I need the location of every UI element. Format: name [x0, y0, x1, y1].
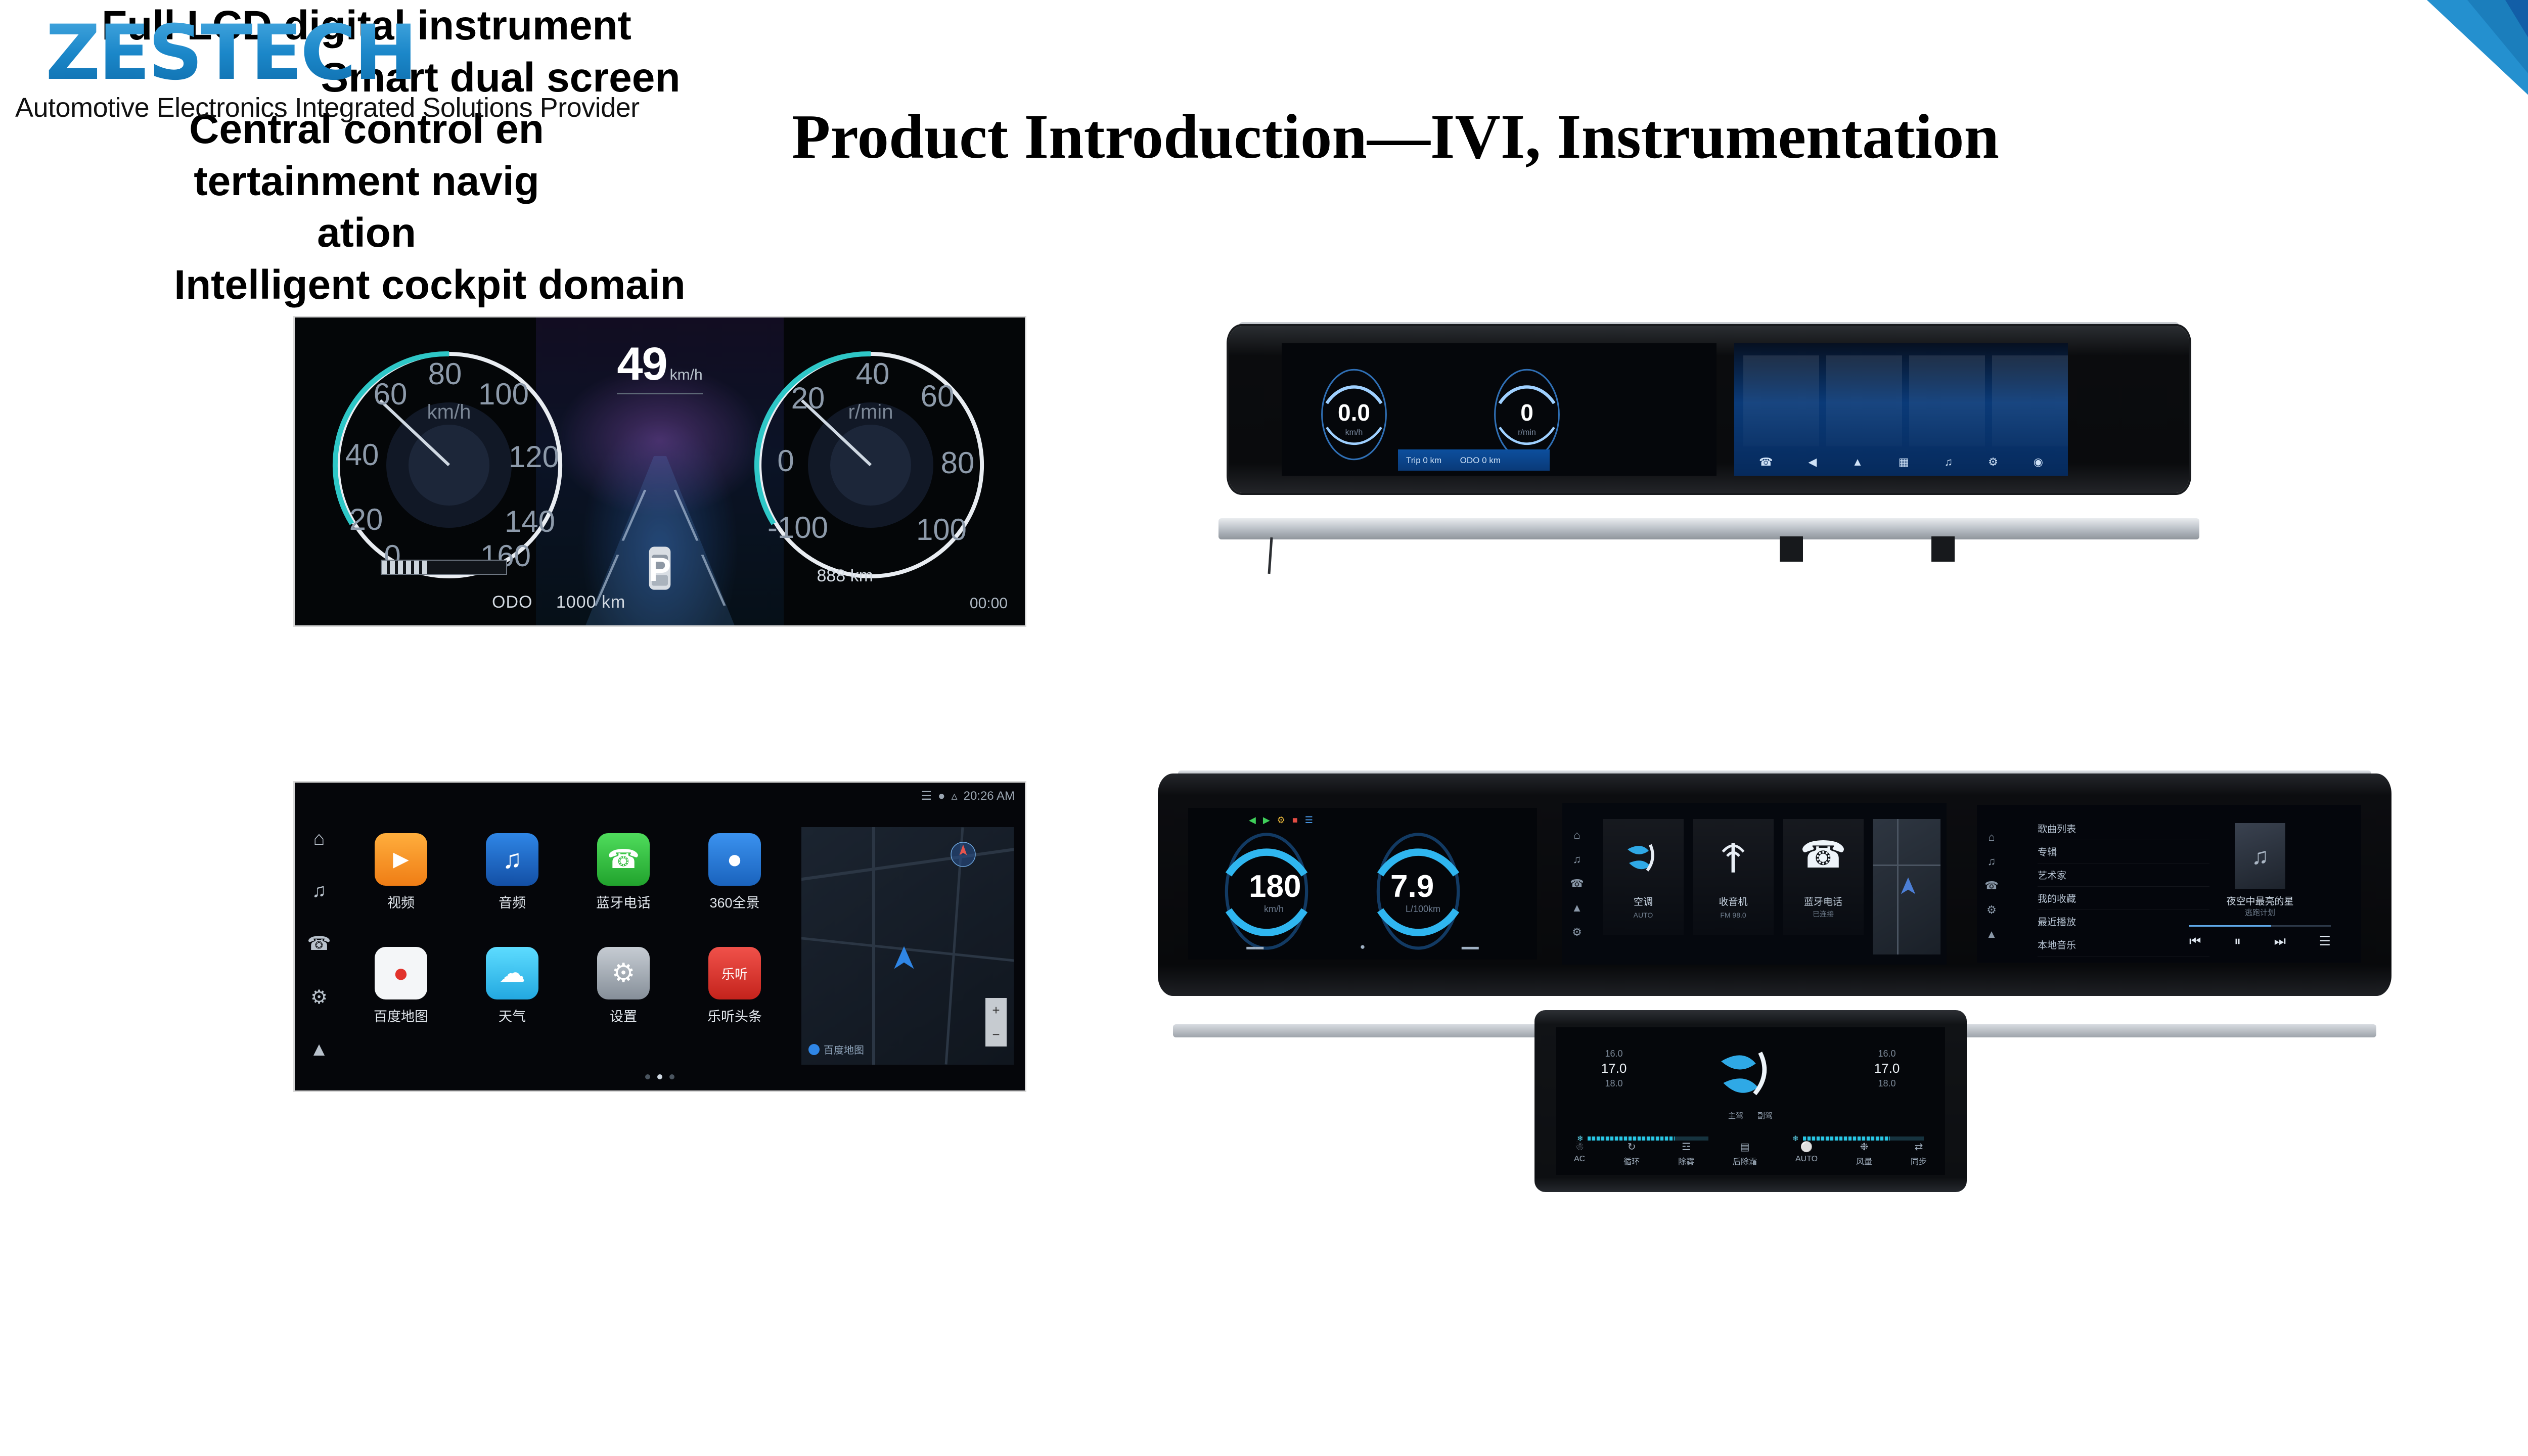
playlist-item[interactable]: 歌曲列表 — [2038, 817, 2209, 840]
nav-phone-icon[interactable]: ☎ — [307, 932, 331, 955]
song-artist: 逃跑计划 — [2204, 907, 2316, 918]
climate-button-row[interactable]: ☃ AC ↻ 循环 ☲ 除雾 ▤ 后除霜 ⚪ AUTO — [1574, 1141, 1927, 1167]
fuel-gauge-bar — [381, 560, 507, 575]
app-tile-settings[interactable]: ⚙ 设置 — [573, 947, 674, 1056]
status-chip: ● — [1360, 942, 1365, 952]
side-nav[interactable]: ⌂ ♫ ☎ ⚙ ▲ — [295, 813, 343, 1076]
range-value: 888 — [817, 566, 845, 585]
svg-text:r/min: r/min — [848, 401, 893, 423]
cockpit-card-climate[interactable]: 空调 AUTO — [1603, 819, 1684, 935]
button-label: 风量 — [1856, 1155, 1872, 1167]
odometer: ODO 1000 km — [492, 593, 625, 612]
rear-defrost-icon: ▤ — [1740, 1141, 1750, 1153]
product-image-smart-dual-screen: 0.0 km/h 0 r/min Trip 0 km ODO 0 km ☎ ◀ … — [1208, 326, 2209, 518]
playlist-item[interactable]: 我的收藏 — [2038, 887, 2209, 910]
dual-infotainment-screen[interactable]: ☎ ◀ ▲ ▦ ♫ ⚙ ◉ — [1734, 343, 2068, 476]
dock-apps-icon[interactable]: ▦ — [1899, 456, 1909, 469]
dock-phone-icon[interactable]: ☎ — [1759, 456, 1773, 469]
dual-antenna-stalk — [1268, 537, 1273, 574]
dual-rpm-value: 0 — [1479, 399, 1575, 426]
zoom-in-icon[interactable]: + — [992, 1003, 1000, 1018]
video-icon: ► — [375, 833, 427, 886]
cockpit-music-screen[interactable]: ⌂ ♫ ☎ ⚙ ▲ 歌曲列表 专辑 艺术家 我的收藏 最近播放 本地音乐 ♫ 夜… — [1977, 805, 2361, 963]
recirculate-icon: ↻ — [1628, 1141, 1636, 1153]
svg-text:60: 60 — [374, 377, 408, 411]
button-label: 循环 — [1623, 1155, 1640, 1167]
product-image-intelligent-cockpit-domain-controller: ◀ ▶ ⚙ ■ ☰ 180 km/h 7.9 — [1158, 773, 2391, 1026]
card-sub: FM 98.0 — [1693, 911, 1774, 919]
temp-current-value: 17.0 — [1859, 1060, 1915, 1077]
corner-decoration — [2376, 0, 2528, 152]
temp-current-value: 17.0 — [1586, 1060, 1642, 1077]
dual-speed-value: 0.0 — [1306, 399, 1402, 426]
playlist-item[interactable]: 专辑 — [2038, 840, 2209, 863]
wifi-icon: ● — [938, 789, 945, 803]
pause-icon[interactable]: ⏸ — [2234, 933, 2241, 949]
cockpit-cluster-screen: ◀ ▶ ⚙ ■ ☰ 180 km/h 7.9 — [1188, 808, 1537, 960]
music-icon[interactable]: ♫ — [1573, 853, 1582, 866]
music-icon: ♫ — [486, 833, 538, 886]
app-label: 360全景 — [709, 892, 759, 912]
app-tile-video[interactable]: ► 视频 — [350, 833, 452, 942]
svg-text:-100: -100 — [768, 511, 828, 544]
button-label: 除雾 — [1678, 1155, 1694, 1167]
status-time: 20:26 AM — [964, 789, 1015, 803]
dual-dock[interactable]: ☎ ◀ ▲ ▦ ♫ ⚙ ◉ — [1741, 456, 2061, 469]
cockpit-music-sidebar[interactable]: ⌂ ♫ ☎ ⚙ ▲ — [1980, 825, 2003, 946]
sync-icon: ⇄ — [1915, 1141, 1923, 1153]
dual-housing: 0.0 km/h 0 r/min Trip 0 km ODO 0 km ☎ ◀ … — [1229, 326, 2189, 493]
nav-navigation-icon[interactable]: ▲ — [309, 1039, 329, 1061]
map-badge: 百度地图 — [808, 1042, 864, 1057]
navigation-icon[interactable]: ▲ — [1986, 928, 1997, 941]
radio-antenna-icon — [1715, 836, 1751, 878]
card-title: 收音机 — [1693, 894, 1774, 908]
bluetooth-icon: ▵ — [952, 789, 958, 803]
climate-button-fanspeed[interactable]: ❉ 风量 — [1856, 1141, 1872, 1167]
playlist-item[interactable]: 艺术家 — [2038, 863, 2209, 887]
status-bar: ☰ ● ▵ 20:26 AM — [921, 789, 1015, 803]
product-image-full-lcd-digital-instrument: 80 60 100 40 120 20 140 0 160 km/h 40 20… — [293, 316, 1026, 627]
fan-speed-icon: ❉ — [1860, 1141, 1869, 1153]
settings-icon[interactable]: ⚙ — [1987, 903, 1997, 917]
button-label: AUTO — [1795, 1155, 1818, 1164]
svg-text:0: 0 — [777, 444, 794, 478]
playlist-icon[interactable]: ☰ — [2319, 933, 2331, 949]
svg-text:60: 60 — [921, 379, 955, 413]
climate-button-rear-defrost[interactable]: ▤ 后除霜 — [1733, 1141, 1757, 1167]
playback-progress[interactable] — [2189, 925, 2331, 927]
dual-mount-foot-right — [1931, 536, 1955, 562]
climate-button-auto[interactable]: ⚪ AUTO — [1795, 1141, 1818, 1167]
climate-screen[interactable]: 16.0 17.0 18.0 16.0 17.0 18.0 主驾 副驾 ❄ — [1556, 1027, 1945, 1175]
song-title: 夜空中最亮的星 — [2204, 894, 2316, 907]
cockpit-center-sidebar[interactable]: ⌂ ♫ ☎ ▲ ⚙ — [1565, 823, 1589, 944]
trip-a-value: Trip 0 km — [1406, 456, 1441, 466]
playlist[interactable]: 歌曲列表 专辑 艺术家 我的收藏 最近播放 本地音乐 — [2038, 817, 2209, 957]
app-tile-bluetooth-phone[interactable]: ☎ 蓝牙电话 — [573, 833, 674, 942]
speed-value: 49 — [617, 338, 666, 390]
app-tile-360-panorama[interactable]: ● 360全景 — [684, 833, 785, 942]
zoom-out-icon[interactable]: − — [992, 1027, 1000, 1042]
page-dot[interactable] — [645, 1074, 650, 1079]
gear-icon: ⚙ — [597, 947, 650, 999]
climate-button-sync[interactable]: ⇄ 同步 — [1911, 1141, 1927, 1167]
phone-icon[interactable]: ☎ — [1570, 877, 1584, 890]
card-sub: AUTO — [1603, 911, 1684, 919]
home-icon[interactable]: ⌂ — [1988, 831, 1995, 844]
svg-text:40: 40 — [345, 438, 379, 472]
highbeam-icon: ☰ — [1305, 815, 1313, 826]
product-image-central-control-entertainment-navigation: ☰ ● ▵ 20:26 AM ⌂ ♫ ☎ ⚙ ▲ ► 视频 ♫ 音频 ☎ 蓝牙电… — [293, 781, 1026, 1092]
music-icon[interactable]: ♫ — [1988, 855, 1996, 868]
warning-lamp-row: ◀ ▶ ⚙ ■ ☰ — [1249, 815, 1476, 826]
navigation-arrow-icon — [890, 943, 918, 972]
odometer-value: 1000 km — [556, 593, 625, 612]
climate-temp-right[interactable]: 16.0 17.0 18.0 — [1859, 1048, 1915, 1090]
button-label: AC — [1574, 1155, 1585, 1164]
temp-up-value: 16.0 — [1586, 1048, 1642, 1060]
svg-text:140: 140 — [505, 505, 555, 538]
previous-track-icon[interactable]: ⏮ — [2189, 933, 2201, 949]
map-zoom-controls[interactable]: + − — [985, 998, 1007, 1046]
cockpit-center-screen[interactable]: ⌂ ♫ ☎ ▲ ⚙ 空调 AUTO — [1562, 803, 1947, 965]
svg-text:120: 120 — [509, 440, 559, 474]
svg-text:80: 80 — [941, 446, 975, 480]
odometer-label: ODO — [492, 593, 532, 612]
cockpit-card-phone[interactable]: ☎ 蓝牙电话 已连接 — [1783, 819, 1864, 935]
app-tile-weather[interactable]: ☁ 天气 — [462, 947, 563, 1056]
seat-label: 副驾 — [1757, 1110, 1773, 1121]
phone-icon[interactable]: ☎ — [1984, 879, 1998, 892]
caption-line: Intelligent cockpit domain — [0, 259, 860, 311]
svg-text:20: 20 — [349, 503, 383, 536]
caption-line: ation — [0, 207, 733, 259]
navigation-icon[interactable]: ▲ — [1571, 901, 1583, 915]
climate-button-recirculate[interactable]: ↻ 循环 — [1623, 1141, 1640, 1167]
trip-b-value: ODO 0 km — [1460, 456, 1501, 466]
nav-home-icon[interactable]: ⌂ — [313, 828, 325, 850]
dual-card-navi[interactable] — [1992, 355, 2068, 446]
map-badge-icon — [808, 1044, 820, 1055]
cockpit-housing: ◀ ▶ ⚙ ■ ☰ 180 km/h 7.9 — [1158, 773, 2391, 996]
dual-cluster-screen: 0.0 km/h 0 r/min Trip 0 km ODO 0 km — [1282, 343, 1717, 476]
map-preview[interactable]: 百度地图 + − — [801, 827, 1014, 1065]
cockpit-card-radio[interactable]: 收音机 FM 98.0 — [1693, 819, 1774, 935]
turn-right-icon: ▶ — [1263, 815, 1270, 826]
dual-trip-bar: Trip 0 km ODO 0 km — [1398, 449, 1550, 471]
nav-music-icon[interactable]: ♫ — [312, 880, 327, 902]
logo-wordmark: ZESTECH — [15, 15, 551, 91]
climate-button-defog[interactable]: ☲ 除雾 — [1678, 1141, 1694, 1167]
dual-card-radio[interactable] — [1743, 355, 1819, 446]
cockpit-card-map[interactable] — [1873, 819, 1940, 954]
button-label: 后除霜 — [1733, 1155, 1757, 1167]
page-title: Product Introduction—IVI, Instrumentatio… — [536, 101, 2255, 173]
logo-tagline: Automotive Electronics Integrated Soluti… — [15, 92, 551, 123]
status-chip: ▬▬ — [1246, 942, 1263, 952]
news-icon: 乐听 — [708, 947, 761, 999]
page-indicator[interactable] — [645, 1074, 674, 1079]
dock-home-icon[interactable]: ▲ — [1852, 456, 1863, 469]
auto-icon: ⚪ — [1800, 1141, 1813, 1153]
settings-icon[interactable]: ⚙ — [1572, 926, 1582, 939]
dual-card-music[interactable] — [1826, 355, 1902, 446]
slide-canvas: ZESTECH Automotive Electronics Integrate… — [0, 0, 2528, 1456]
speedometer-gauge: 80 60 100 40 120 20 140 0 160 km/h — [318, 342, 580, 589]
map-pin-icon: ● — [375, 947, 427, 999]
card-title: 空调 — [1603, 894, 1684, 908]
nav-settings-icon[interactable]: ⚙ — [310, 986, 328, 1009]
weather-icon: ☁ — [486, 947, 538, 999]
dock-music-icon[interactable]: ♫ — [1945, 456, 1953, 469]
seat-label: 主驾 — [1728, 1110, 1743, 1121]
button-label: 同步 — [1911, 1155, 1927, 1167]
temp-up-value: 16.0 — [1859, 1048, 1915, 1060]
app-tile-baidu-maps[interactable]: ● 百度地图 — [350, 947, 452, 1056]
defog-icon: ☲ — [1682, 1141, 1691, 1153]
dual-base-plate — [1218, 518, 2199, 539]
range-unit: km — [850, 566, 873, 585]
dual-rpm-unit: r/min — [1479, 428, 1575, 437]
app-label: 乐听头条 — [707, 1006, 762, 1025]
svg-text:80: 80 — [428, 357, 462, 391]
svg-text:100: 100 — [478, 377, 529, 411]
speed-underline — [617, 393, 703, 394]
cockpit-fuel-unit: L/100km — [1406, 904, 1440, 915]
card-title: 蓝牙电话 — [1783, 894, 1864, 908]
range-readout: 888 km — [817, 566, 873, 586]
cockpit-climate-tablet: 16.0 17.0 18.0 16.0 17.0 18.0 主驾 副驾 ❄ — [1534, 1010, 1967, 1192]
airflow-fan-icon — [1712, 1041, 1788, 1107]
svg-text:100: 100 — [916, 513, 967, 547]
dock-volume-icon[interactable]: ◉ — [2034, 456, 2043, 469]
cockpit-fuel-value: 7.9 — [1390, 869, 1434, 904]
phone-icon: ☎ — [597, 833, 650, 886]
ac-icon: ☃ — [1575, 1141, 1584, 1153]
app-label: 天气 — [499, 1006, 526, 1025]
navigation-arrow-icon — [1897, 875, 1919, 897]
page-dot[interactable] — [669, 1074, 674, 1079]
next-track-icon[interactable]: ⏭ — [2274, 933, 2286, 949]
compass-icon — [948, 839, 978, 870]
cockpit-cluster-statusbar: ▬▬ ● ▬▬ — [1198, 939, 1527, 954]
svg-text:20: 20 — [791, 381, 825, 415]
app-label: 百度地图 — [374, 1006, 428, 1025]
brand-logo: ZESTECH Automotive Electronics Integrate… — [15, 15, 551, 123]
map-badge-label: 百度地图 — [824, 1042, 864, 1057]
dock-back-icon[interactable]: ◀ — [1808, 456, 1817, 469]
speed-unit: km/h — [670, 367, 703, 383]
climate-button-ac[interactable]: ☃ AC — [1574, 1141, 1585, 1167]
engine-icon: ⚙ — [1277, 815, 1285, 826]
svg-text:km/h: km/h — [427, 401, 471, 423]
app-label: 设置 — [610, 1006, 637, 1025]
temp-down-value: 18.0 — [1586, 1077, 1642, 1089]
turn-left-icon: ◀ — [1249, 815, 1256, 826]
phone-icon: ☎ — [1783, 833, 1864, 877]
album-art: ♫ — [2235, 823, 2285, 889]
app-tile-audio[interactable]: ♫ 音频 — [462, 833, 563, 942]
seat-labels: 主驾 副驾 — [1728, 1110, 1773, 1121]
app-tile-news[interactable]: 乐听 乐听头条 — [684, 947, 785, 1056]
app-label: 音频 — [499, 892, 526, 912]
page-dot-active[interactable] — [657, 1074, 662, 1079]
dock-settings-icon[interactable]: ⚙ — [1988, 456, 1998, 469]
signal-icon: ☰ — [921, 789, 932, 803]
dual-card-phone[interactable] — [1909, 355, 1985, 446]
gear-indicator: P — [649, 550, 671, 588]
app-label: 蓝牙电话 — [596, 892, 651, 912]
playlist-item[interactable]: 本地音乐 — [2038, 933, 2209, 957]
cockpit-speed-value: 180 — [1249, 869, 1301, 904]
home-icon[interactable]: ⌂ — [1573, 829, 1580, 842]
playback-controls[interactable]: ⏮ ⏸ ⏭ ☰ — [2189, 933, 2331, 949]
temp-down-value: 18.0 — [1859, 1077, 1915, 1089]
status-chip: ▬▬ — [1462, 942, 1479, 952]
speed-readout: 49km/h — [617, 338, 703, 394]
app-label: 视频 — [387, 892, 415, 912]
cockpit-speed-unit: km/h — [1264, 904, 1284, 915]
battery-icon: ■ — [1292, 815, 1298, 826]
app-grid[interactable]: ► 视频 ♫ 音频 ☎ 蓝牙电话 ● 360全景 ● 百度地图 ☁ 天气 — [350, 833, 785, 1056]
svg-text:40: 40 — [856, 357, 890, 391]
panorama-icon: ● — [708, 833, 761, 886]
tachometer-gauge: 40 20 60 0 80 -100 100 r/min — [739, 342, 1002, 589]
dual-mount-foot-left — [1780, 536, 1803, 562]
playlist-item[interactable]: 最近播放 — [2038, 910, 2209, 933]
fan-icon — [1620, 834, 1665, 880]
dual-speed-unit: km/h — [1306, 428, 1402, 437]
climate-temp-left[interactable]: 16.0 17.0 18.0 — [1586, 1048, 1642, 1090]
card-sub: 已连接 — [1783, 909, 1864, 919]
clock-readout: 00:00 — [970, 595, 1008, 612]
